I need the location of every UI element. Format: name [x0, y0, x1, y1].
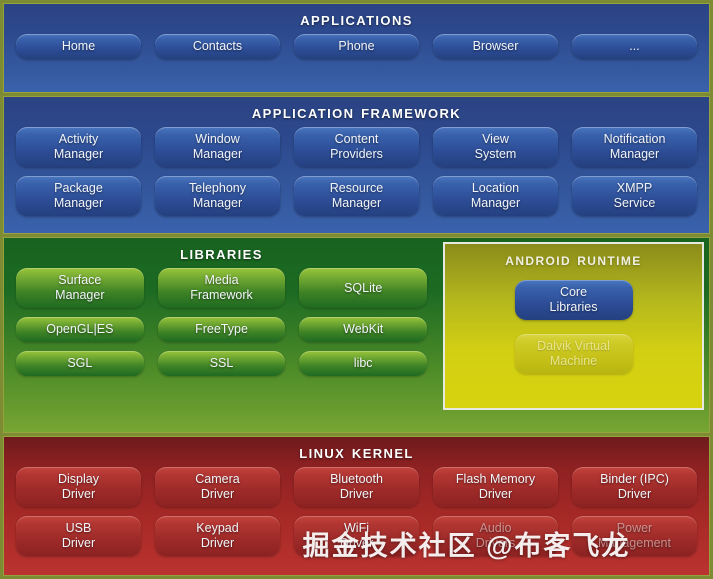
android-architecture-diagram: Applications Home Contacts Phone Browser… — [0, 0, 713, 579]
layer-linux-kernel: Linux Kernel DisplayDriver CameraDriver … — [3, 436, 710, 576]
layer-applications: Applications Home Contacts Phone Browser… — [3, 3, 710, 93]
framework-resource-manager[interactable]: ResourceManager — [294, 176, 419, 216]
framework-window-manager[interactable]: WindowManager — [155, 127, 280, 167]
applications-rows: Home Contacts Phone Browser ... — [4, 34, 709, 67]
app-home[interactable]: Home — [16, 34, 141, 59]
runtime-dalvik-virtual-machine[interactable]: Dalvik VirtualMachine — [515, 334, 633, 374]
framework-telephony-manager[interactable]: TelephonyManager — [155, 176, 280, 216]
libraries-row-1: SurfaceManager MediaFramework SQLite — [16, 268, 427, 308]
libraries-row-2: OpenGL|ES FreeType WebKit — [16, 317, 427, 342]
kernel-usb-driver[interactable]: USBDriver — [16, 516, 141, 556]
framework-package-manager[interactable]: PackageManager — [16, 176, 141, 216]
library-opengl-es[interactable]: OpenGL|ES — [16, 317, 144, 342]
kernel-keypad-driver[interactable]: KeypadDriver — [155, 516, 280, 556]
framework-rows: ActivityManager WindowManager ContentPro… — [4, 127, 709, 224]
layer-title-libraries: Libraries — [180, 243, 263, 265]
libraries-row-3: SGL SSL libc — [16, 351, 427, 376]
layer-title-android-runtime: Android Runtime — [505, 250, 641, 270]
framework-activity-manager[interactable]: ActivityManager — [16, 127, 141, 167]
library-webkit[interactable]: WebKit — [299, 317, 427, 342]
kernel-power-management[interactable]: PowerManagement — [572, 516, 697, 556]
kernel-flash-memory-driver[interactable]: Flash MemoryDriver — [433, 467, 558, 507]
android-runtime-panel: Android Runtime CoreLibraries Dalvik Vir… — [443, 242, 704, 410]
framework-notification-manager[interactable]: NotificationManager — [572, 127, 697, 167]
layer-libraries-and-runtime: Libraries SurfaceManager MediaFramework … — [3, 237, 710, 433]
library-surface-manager[interactable]: SurfaceManager — [16, 268, 144, 308]
kernel-row-2: USBDriver KeypadDriver WiFiDriver AudioD… — [16, 516, 697, 556]
library-media-framework[interactable]: MediaFramework — [158, 268, 286, 308]
kernel-camera-driver[interactable]: CameraDriver — [155, 467, 280, 507]
android-runtime-wrapper: Android Runtime CoreLibraries Dalvik Vir… — [439, 238, 709, 432]
library-ssl[interactable]: SSL — [158, 351, 286, 376]
library-freetype[interactable]: FreeType — [158, 317, 286, 342]
library-libc[interactable]: libc — [299, 351, 427, 376]
kernel-wifi-driver[interactable]: WiFiDriver — [294, 516, 419, 556]
runtime-core-libraries[interactable]: CoreLibraries — [515, 280, 633, 320]
kernel-rows: DisplayDriver CameraDriver BluetoothDriv… — [4, 467, 709, 564]
libraries-rows: SurfaceManager MediaFramework SQLite Ope… — [4, 268, 439, 384]
layer-title-application-framework: Application Framework — [252, 102, 461, 124]
library-sqlite[interactable]: SQLite — [299, 268, 427, 308]
applications-row-1: Home Contacts Phone Browser ... — [16, 34, 697, 59]
library-sgl[interactable]: SGL — [16, 351, 144, 376]
app-browser[interactable]: Browser — [433, 34, 558, 59]
framework-location-manager[interactable]: LocationManager — [433, 176, 558, 216]
kernel-display-driver[interactable]: DisplayDriver — [16, 467, 141, 507]
kernel-binder-ipc-driver[interactable]: Binder (IPC)Driver — [572, 467, 697, 507]
kernel-bluetooth-driver[interactable]: BluetoothDriver — [294, 467, 419, 507]
kernel-row-1: DisplayDriver CameraDriver BluetoothDriv… — [16, 467, 697, 507]
framework-row-1: ActivityManager WindowManager ContentPro… — [16, 127, 697, 167]
libraries-column: Libraries SurfaceManager MediaFramework … — [4, 238, 439, 432]
layer-application-framework: Application Framework ActivityManager Wi… — [3, 96, 710, 234]
framework-content-providers[interactable]: ContentProviders — [294, 127, 419, 167]
app-more[interactable]: ... — [572, 34, 697, 59]
kernel-audio-drivers[interactable]: AudioDrivers — [433, 516, 558, 556]
framework-view-system[interactable]: ViewSystem — [433, 127, 558, 167]
layer-title-applications: Applications — [300, 9, 413, 31]
framework-xmpp-service[interactable]: XMPPService — [572, 176, 697, 216]
framework-row-2: PackageManager TelephonyManager Resource… — [16, 176, 697, 216]
app-phone[interactable]: Phone — [294, 34, 419, 59]
layer-title-linux-kernel: Linux Kernel — [299, 442, 414, 464]
app-contacts[interactable]: Contacts — [155, 34, 280, 59]
